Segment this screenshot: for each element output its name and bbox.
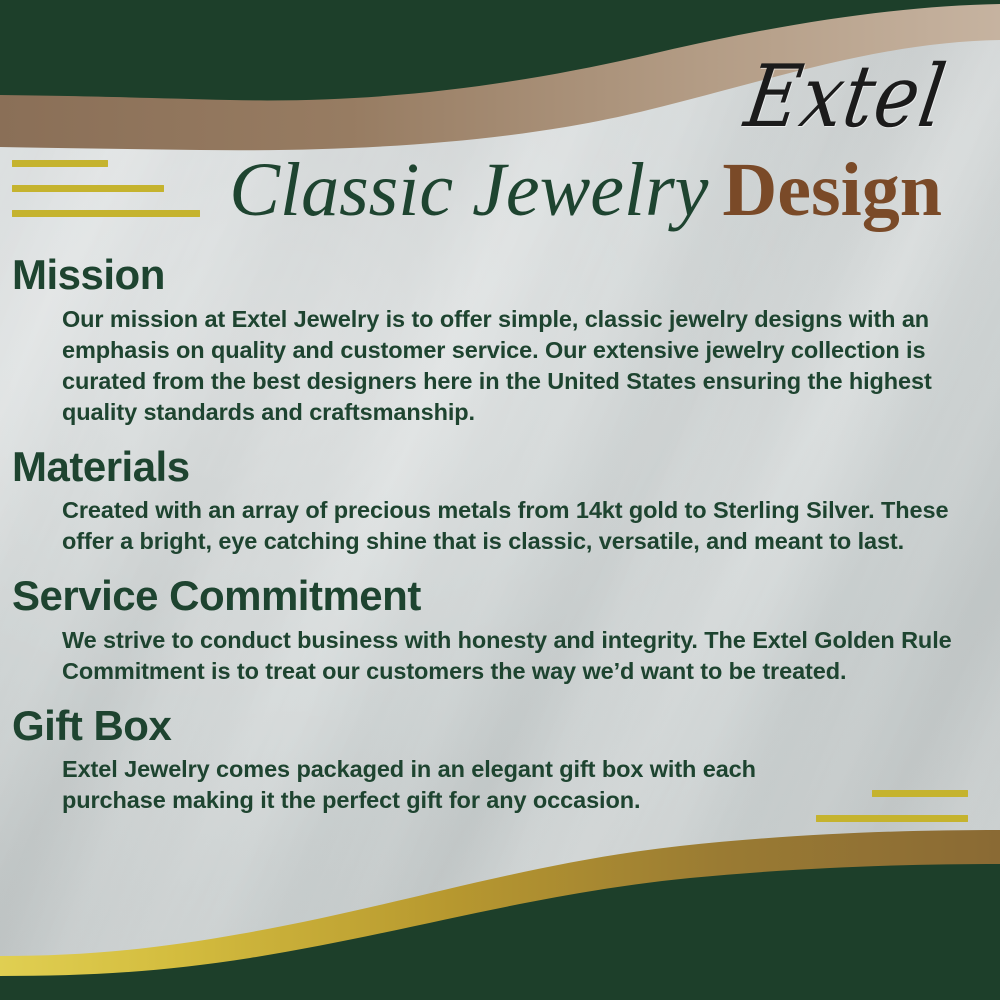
title-italic-part: Classic Jewelry (229, 152, 708, 228)
bottom-wave-decoration (0, 830, 1000, 1000)
section-heading: Service Commitment (12, 571, 977, 621)
section-gift-box: Gift Box Extel Jewelry comes packaged in… (12, 701, 977, 817)
section-paragraph: Extel Jewelry comes packaged in an elega… (62, 754, 762, 816)
section-heading: Gift Box (12, 701, 977, 751)
gold-rule (12, 185, 164, 192)
gold-rule (12, 210, 200, 217)
content-sections: Mission Our mission at Extel Jewelry is … (12, 250, 977, 824)
brand-script-logo: Extel (740, 54, 952, 140)
poster-canvas: Extel Classic Jewelry Design Mission Our… (0, 0, 1000, 1000)
section-materials: Materials Created with an array of preci… (12, 442, 977, 558)
section-paragraph: We strive to conduct business with hones… (62, 625, 977, 687)
gold-rule (12, 160, 108, 167)
section-heading: Mission (12, 250, 977, 300)
title-bold-part: Design (722, 152, 942, 228)
page-title: Classic Jewelry Design (229, 152, 942, 228)
gold-rules-top-left (12, 160, 200, 217)
section-mission: Mission Our mission at Extel Jewelry is … (12, 250, 977, 428)
section-paragraph: Our mission at Extel Jewelry is to offer… (62, 304, 977, 428)
section-paragraph: Created with an array of precious metals… (62, 495, 977, 557)
section-service-commitment: Service Commitment We strive to conduct … (12, 571, 977, 687)
section-heading: Materials (12, 442, 977, 492)
